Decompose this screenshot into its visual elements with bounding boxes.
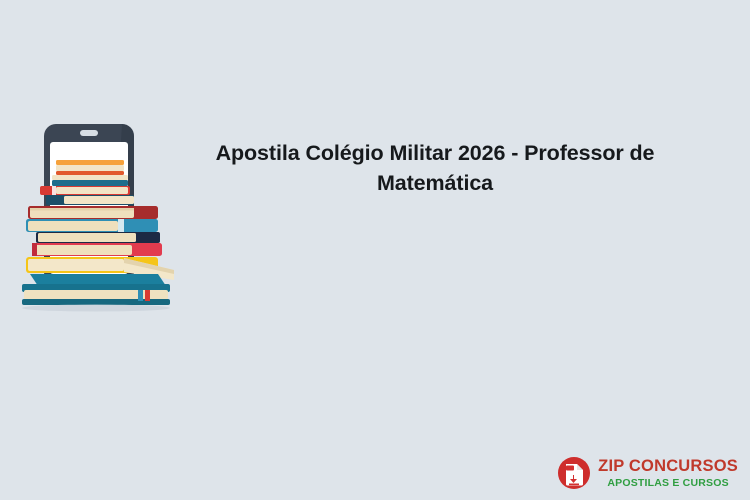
bookmark-red (145, 290, 150, 301)
book-base-teal (22, 274, 170, 305)
book-crimson (32, 243, 162, 256)
brand-name: ZIP CONCURSOS (598, 458, 738, 475)
brand-tagline: APOSTILAS E CURSOS (607, 478, 728, 489)
book-orange (56, 160, 124, 175)
illustration-shadow (22, 305, 170, 312)
book-teal-navy (52, 175, 128, 186)
book-blue (26, 219, 158, 232)
book-dark-red (28, 206, 158, 219)
pdf-download-icon (557, 456, 591, 490)
product-illustration (8, 118, 178, 318)
bookmark-blue (138, 290, 143, 301)
page-root: Apostila Colégio Militar 2026 - Professo… (0, 0, 750, 500)
brand-logo[interactable]: ZIP CONCURSOS APOSTILAS E CURSOS (557, 456, 738, 490)
book-red (40, 186, 130, 195)
book-dark-navy (36, 232, 160, 243)
page-title: Apostila Colégio Militar 2026 - Professo… (185, 138, 685, 198)
product-title-text: Apostila Colégio Militar 2026 - Professo… (185, 138, 685, 198)
book-navy (46, 195, 134, 205)
brand-text-group: ZIP CONCURSOS APOSTILAS E CURSOS (598, 458, 738, 488)
